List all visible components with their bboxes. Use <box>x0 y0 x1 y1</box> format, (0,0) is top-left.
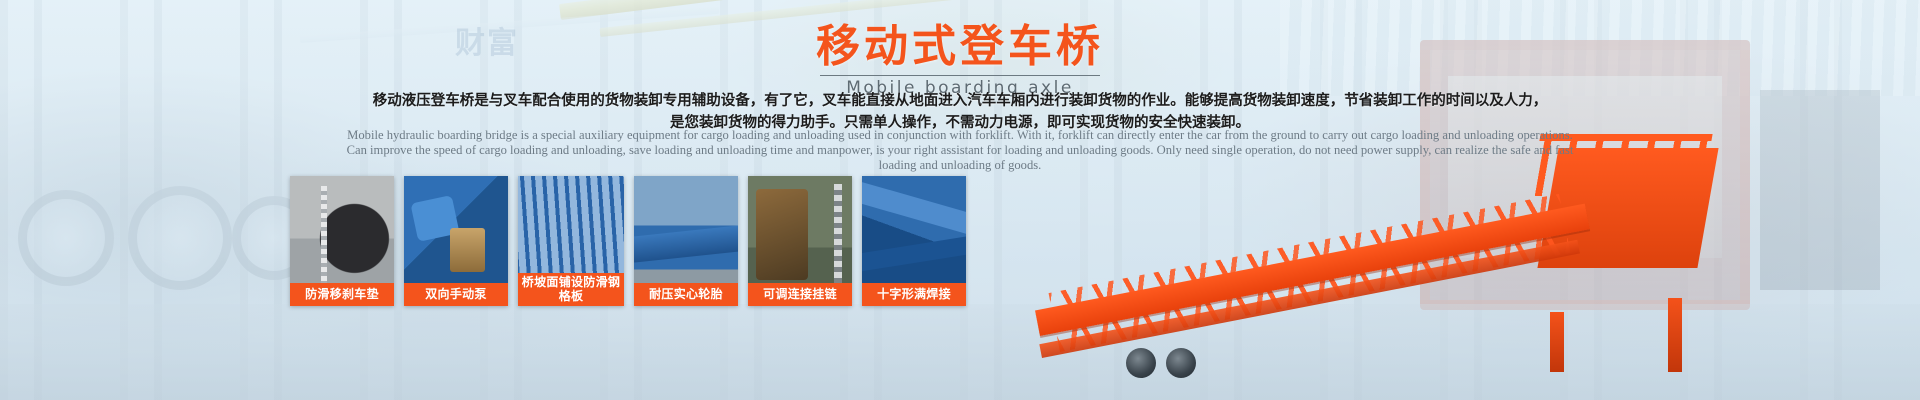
bridge-support-leg <box>1550 312 1564 372</box>
feature-thumbnail[interactable]: 耐压实心轮胎 <box>634 176 738 306</box>
feature-caption: 桥坡面铺设防滑钢格板 <box>518 273 624 306</box>
description-english: Mobile hydraulic boarding bridge is a sp… <box>340 128 1580 173</box>
feature-caption: 可调连接挂链 <box>748 283 852 306</box>
page-title: 移动式登车桥 <box>0 22 1920 73</box>
boarding-bridge-illustration <box>1040 142 1740 372</box>
feature-thumbnail-strip: 防滑移刹车垫 双向手动泵 桥坡面铺设防滑钢格板 耐压实心轮胎 可调连接挂链 十字… <box>290 176 966 306</box>
headline-block: 移动式登车桥 Mobile boarding axle <box>0 22 1920 98</box>
feature-caption: 十字形满焊接 <box>862 283 966 306</box>
feature-caption: 双向手动泵 <box>404 283 508 306</box>
bridge-wheel <box>1166 348 1196 378</box>
bridge-deck <box>1035 204 1590 336</box>
feature-thumbnail[interactable]: 桥坡面铺设防滑钢格板 <box>518 176 624 306</box>
feature-caption: 防滑移刹车垫 <box>290 283 394 306</box>
feature-thumbnail[interactable]: 双向手动泵 <box>404 176 508 306</box>
feature-thumbnail[interactable]: 可调连接挂链 <box>748 176 852 306</box>
bridge-wheel <box>1126 348 1156 378</box>
bridge-support-leg <box>1668 298 1682 372</box>
product-banner: 财富 移动式登车桥 Mobile boarding axle 移动液压登车桥是与… <box>0 0 1920 400</box>
feature-thumbnail[interactable]: 防滑移刹车垫 <box>290 176 394 306</box>
feature-caption: 耐压实心轮胎 <box>634 283 738 306</box>
feature-thumbnail[interactable]: 十字形满焊接 <box>862 176 966 306</box>
